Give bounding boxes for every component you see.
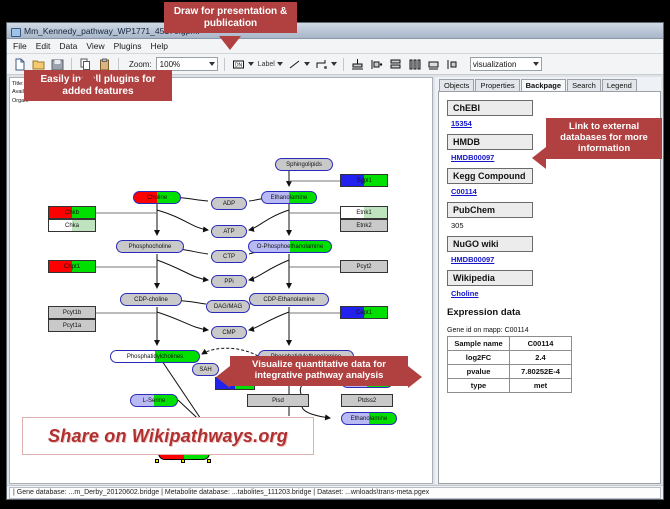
node-pcyt2[interactable]: Pcyt2 (340, 260, 388, 273)
node-label: Chkb (65, 210, 79, 216)
menu-data[interactable]: Data (59, 41, 77, 51)
node-label: Cept1 (356, 310, 372, 316)
nugo-link[interactable]: HMDB00097 (451, 255, 652, 264)
selection-handle[interactable] (207, 459, 211, 463)
expr-key: log2FC (448, 351, 510, 365)
datanode-tool[interactable]: DN (231, 57, 254, 72)
node-label: CDP-choline (134, 297, 168, 303)
line-tool-icon[interactable] (287, 57, 302, 72)
tab-backpage[interactable]: Backpage (521, 79, 566, 91)
node-cept1[interactable]: Cept1 (340, 306, 388, 319)
label-tool[interactable]: Label (258, 61, 283, 68)
section-heading-wikipedia: Wikipedia (447, 270, 533, 286)
node-label: Chpt1 (64, 264, 80, 270)
datanode-icon[interactable]: DN (231, 57, 246, 72)
same-width-icon[interactable] (426, 57, 441, 72)
align-left-icon[interactable] (369, 57, 384, 72)
node-ctp[interactable]: CTP (211, 250, 247, 263)
table-row: pvalue 7.80252E-4 (448, 365, 572, 379)
callout-visualize-quantitative-data: Visualize quantitative data for integrat… (230, 356, 408, 386)
node-label: DAG/MAG (214, 304, 242, 310)
node-label: L-Serine (143, 398, 166, 404)
group-icon[interactable] (445, 57, 460, 72)
table-row: type met (448, 379, 572, 393)
toolbar-separator (224, 58, 225, 71)
toolbar-separator (343, 58, 344, 71)
tab-legend[interactable]: Legend (602, 79, 637, 91)
menu-edit[interactable]: Edit (36, 41, 51, 51)
node-label: Choline (147, 195, 167, 201)
callout-link-to-external-databases: Link to external databases for more info… (546, 118, 662, 159)
expression-data-title: Expression data (447, 307, 652, 318)
callout-arrow-up-plugins (77, 70, 99, 84)
node-ethanolamine-bottom[interactable]: Ethanolamine (341, 412, 397, 425)
menu-plugins[interactable]: Plugins (114, 41, 142, 51)
node-o-phosphoethanolamine[interactable]: O-Phosphoethanolamine (248, 240, 332, 253)
chevron-down-icon (209, 62, 215, 66)
expr-value: met (510, 379, 572, 393)
callout-draw-for-presentation: Draw for presentation & publication (164, 2, 297, 33)
node-label: SAH (199, 367, 211, 373)
status-bar: | Gene database: ...m_Derby_20120602.bri… (7, 485, 663, 499)
node-label: Phosphocholine (129, 244, 172, 250)
node-dag-mag[interactable]: DAG/MAG (206, 300, 250, 313)
tab-search[interactable]: Search (567, 79, 601, 91)
node-label: Pcyt1b (63, 310, 81, 316)
node-label: CMP (222, 330, 235, 336)
toolbar-separator (71, 58, 72, 71)
tab-properties[interactable]: Properties (475, 79, 519, 91)
share-banner: Share on Wikipathways.org (22, 417, 314, 455)
kegg-link[interactable]: C00114 (451, 187, 652, 196)
zoom-label: Zoom: (129, 60, 152, 69)
node-label: Phosphatidylcholines (127, 354, 183, 360)
callout-arrow-down-draw (219, 36, 241, 50)
node-cmp[interactable]: CMP (211, 326, 247, 339)
callout-text: Draw for presentation & publication (164, 2, 297, 33)
node-etnk2[interactable]: Etnk2 (340, 219, 388, 232)
toolbar-separator (118, 58, 119, 71)
title-bar: Mm_Kennedy_pathway_WP1771_45176.gpml (7, 23, 663, 39)
node-ptdss2[interactable]: Ptdss2 (341, 394, 393, 407)
node-label: Ethanolamine (271, 195, 308, 201)
callout-arrow-right-visualize (408, 366, 422, 388)
visualization-value: visualization (473, 60, 517, 69)
node-label: Chka (65, 223, 79, 229)
callout-arrow-left-link (532, 147, 546, 169)
node-etnk1[interactable]: Etnk1 (340, 206, 388, 219)
section-heading-pubchem: PubChem (447, 202, 533, 218)
node-label: PPi (224, 279, 233, 285)
node-label: Ethanolamine (351, 416, 388, 422)
selection-handle[interactable] (155, 459, 159, 463)
node-label: O-Phosphoethanolamine (257, 244, 323, 250)
node-cdp-choline[interactable]: CDP-choline (120, 293, 182, 306)
app-window-icon (10, 26, 20, 36)
stack-vertical-icon[interactable] (388, 57, 403, 72)
section-heading-chebi: ChEBI (447, 100, 533, 116)
node-adp[interactable]: ADP (211, 197, 247, 210)
node-ethanolamine-top[interactable]: Ethanolamine (261, 191, 317, 204)
section-heading-nugo-wiki: NuGO wiki (447, 236, 533, 252)
chevron-down-icon (304, 62, 310, 66)
callout-text: Visualize quantitative data for integrat… (230, 356, 408, 386)
node-choline-top[interactable]: Choline (133, 191, 181, 204)
align-top-icon[interactable] (350, 57, 365, 72)
callout-text: Link to external databases for more info… (546, 118, 662, 159)
node-label: CDP-Ethanolamine (263, 297, 314, 303)
menu-view[interactable]: View (86, 41, 104, 51)
selection-handle[interactable] (181, 459, 185, 463)
connector-tool[interactable] (314, 57, 337, 72)
svg-text:DN: DN (235, 62, 243, 68)
node-label: ADP (223, 201, 235, 207)
node-label: Sphingolipids (286, 162, 322, 168)
menu-file[interactable]: File (13, 41, 27, 51)
node-label: ATP (223, 229, 234, 235)
side-panel-tabs: Objects Properties Backpage Search Legen… (435, 77, 661, 91)
menu-bar: File Edit Data View Plugins Help (7, 39, 663, 54)
node-ppi[interactable]: PPi (211, 275, 247, 288)
chevron-down-icon (533, 62, 539, 66)
screenshot-root: Mm_Kennedy_pathway_WP1771_45176.gpml Fil… (0, 0, 670, 509)
section-heading-hmdb: HMDB (447, 134, 533, 150)
label-tool-text: Label (258, 61, 275, 68)
gene-id-on-mapp: Gene id on mapp: C00114 (447, 327, 652, 334)
wikipedia-link[interactable]: Choline (451, 289, 652, 298)
node-label: CTP (223, 254, 235, 260)
line-tool[interactable] (287, 57, 310, 72)
expr-key: type (448, 379, 510, 393)
node-atp[interactable]: ATP (211, 225, 247, 238)
node-sphingolipids[interactable]: Sphingolipids (275, 158, 333, 171)
node-label: Etnk1 (356, 210, 371, 216)
distribute-horizontal-icon[interactable] (407, 57, 422, 72)
node-chka[interactable]: Chka (48, 219, 96, 232)
expr-value: 7.80252E-4 (510, 365, 572, 379)
status-text: | Gene database: ...m_Derby_20120602.bri… (9, 487, 661, 499)
expr-key: Sample name (448, 337, 510, 351)
table-row: Sample name C00114 (448, 337, 572, 351)
node-label: Pcyt1a (63, 323, 81, 329)
section-heading-kegg-compound: Kegg Compound (447, 168, 533, 184)
node-cdp-ethanolamine[interactable]: CDP-Ethanolamine (249, 293, 329, 306)
share-text: Share on Wikipathways.org (48, 426, 288, 447)
node-label: Etnk2 (356, 223, 371, 229)
expr-value: C00114 (510, 337, 572, 351)
chevron-down-icon (248, 62, 254, 66)
node-chkb[interactable]: Chkb (48, 206, 96, 219)
node-l-serine-left[interactable]: L-Serine (130, 394, 178, 407)
zoom-combobox[interactable]: 100% (156, 57, 218, 71)
node-label: Pisd (272, 398, 284, 404)
callout-arrow-left-visualize (216, 366, 230, 388)
expression-table: Sample name C00114 log2FC 2.4 pvalue 7.8… (447, 336, 572, 393)
node-sah[interactable]: SAH (192, 363, 219, 376)
connector-tool-icon[interactable] (314, 57, 329, 72)
visualization-combobox[interactable]: visualization (470, 57, 542, 71)
node-chpt1[interactable]: Chpt1 (48, 260, 96, 273)
tab-objects[interactable]: Objects (439, 79, 474, 91)
expr-key: pvalue (448, 365, 510, 379)
node-pcyt1a[interactable]: Pcyt1a (48, 319, 96, 332)
node-label: Ptdss2 (358, 398, 376, 404)
node-phosphocholine[interactable]: Phosphocholine (116, 240, 184, 253)
expr-value: 2.4 (510, 351, 572, 365)
node-label: Sgpl1 (356, 178, 371, 184)
chevron-down-icon (331, 62, 337, 66)
node-label: Pcyt2 (356, 264, 371, 270)
node-phosphatidylcholines[interactable]: Phosphatidylcholines (110, 350, 200, 363)
menu-help[interactable]: Help (151, 41, 168, 51)
zoom-value: 100% (159, 60, 180, 69)
node-sgpl1[interactable]: Sgpl1 (340, 174, 388, 187)
chevron-down-icon (277, 62, 283, 66)
node-pcyt1b[interactable]: Pcyt1b (48, 306, 96, 319)
node-pisd[interactable]: Pisd (247, 394, 309, 407)
pubchem-value: 305 (451, 221, 652, 230)
table-row: log2FC 2.4 (448, 351, 572, 365)
